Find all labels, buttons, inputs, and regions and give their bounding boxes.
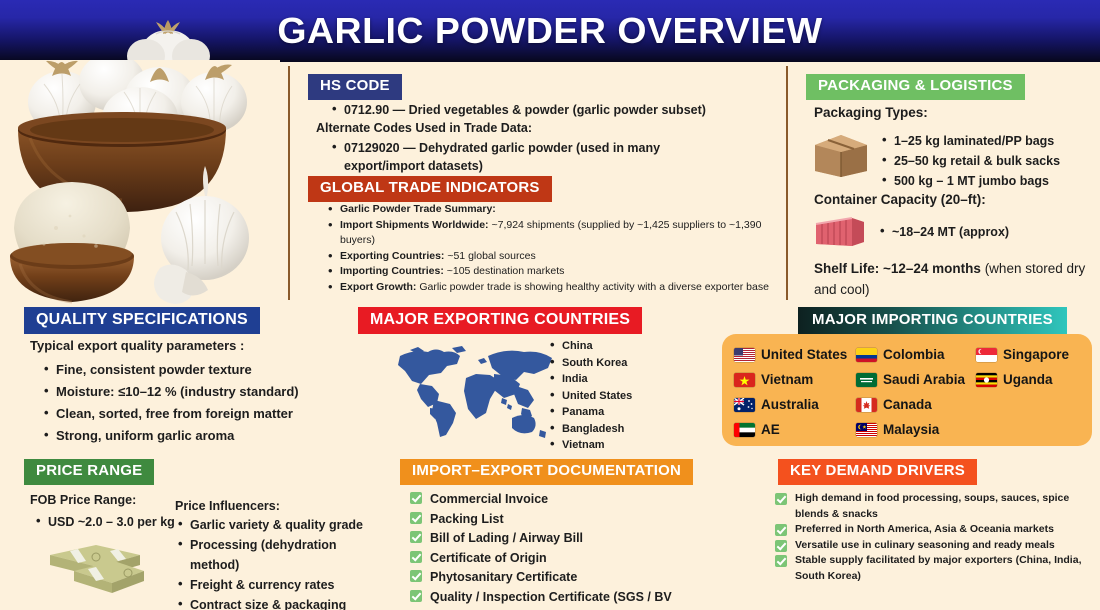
importing-countries-panel: United StatesColombiaSingaporeVietnamSau… xyxy=(722,334,1092,446)
container-capacity-label: Container Capacity (20–ft): xyxy=(814,192,986,207)
list-item: Exporting Countries: ~51 global sources xyxy=(326,249,778,265)
documentation-heading: IMPORT–EXPORT DOCUMENTATION xyxy=(400,459,693,485)
quality-list: Fine, consistent powder textureMoisture:… xyxy=(42,359,332,447)
flag-canada-icon xyxy=(856,398,877,412)
check-icon xyxy=(410,570,422,582)
cardboard-box-icon xyxy=(812,131,870,177)
flag-vietnam-icon xyxy=(734,373,755,387)
check-icon xyxy=(775,540,787,552)
demand-section: KEY DEMAND DRIVERS xyxy=(778,459,977,485)
list-item: Quality / Inspection Certificate (SGS / … xyxy=(410,588,720,610)
price-heading: PRICE RANGE xyxy=(24,459,154,485)
list-item: Panama xyxy=(548,404,698,421)
list-item-label: Exporting Countries: xyxy=(340,250,444,262)
flag-uae-icon xyxy=(734,423,755,437)
flag-uganda-icon xyxy=(976,373,997,387)
packaging-heading: PACKAGING & LOGISTICS xyxy=(806,74,1025,100)
infographic-page: GARLIC POWDER OVERVIEW xyxy=(0,0,1100,610)
flag-saudi-arabia-icon xyxy=(856,373,877,387)
list-item: 25–50 kg retail & bulk sacks xyxy=(880,151,1080,171)
list-item: Strong, uniform garlic aroma xyxy=(42,425,332,447)
importing-country-label: Malaysia xyxy=(883,422,939,437)
importing-country-item: Malaysia xyxy=(856,422,976,437)
importing-country-item: Vietnam xyxy=(734,372,856,387)
importing-country-label: United States xyxy=(761,347,847,362)
price-section: PRICE RANGE xyxy=(24,459,154,485)
demand-heading: KEY DEMAND DRIVERS xyxy=(778,459,977,485)
list-item: Commercial Invoice xyxy=(410,490,720,510)
global-trade-heading: GLOBAL TRADE INDICATORS xyxy=(308,176,552,202)
list-item: Certificate of Origin xyxy=(410,549,720,569)
money-bundles-icon xyxy=(44,541,148,599)
documentation-list: Commercial InvoicePacking ListBill of La… xyxy=(410,490,720,610)
quality-subtitle: Typical export quality parameters : xyxy=(30,338,244,353)
hs-code-section: HS CODE xyxy=(308,74,402,100)
header-banner: GARLIC POWDER OVERVIEW xyxy=(0,0,1100,62)
hs-code-heading: HS CODE xyxy=(308,74,402,100)
list-item: Contract size & packaging xyxy=(176,595,386,610)
importing-country-label: Singapore xyxy=(1003,347,1069,362)
packaging-types-label: Packaging Types: xyxy=(814,105,928,120)
list-item: 07129020 — Dehydrated garlic powder (use… xyxy=(330,139,730,175)
list-item: Export Growth: Garlic powder trade is sh… xyxy=(326,280,778,296)
importing-country-item: Canada xyxy=(856,397,976,412)
list-item: Bangladesh xyxy=(548,421,698,438)
list-item: Packing List xyxy=(410,510,720,530)
list-item: India xyxy=(548,371,698,388)
list-item: ~18–24 MT (approx) xyxy=(878,223,1068,241)
list-item: High demand in food processing, soups, s… xyxy=(775,491,1085,522)
exporting-heading: MAJOR EXPORTING COUNTRIES xyxy=(358,307,642,334)
check-icon xyxy=(775,493,787,505)
quality-section: QUALITY SPECIFICATIONS xyxy=(24,307,260,334)
flag-malaysia-icon xyxy=(856,423,877,437)
price-influencers-label: Price Influencers: xyxy=(175,499,280,513)
flag-colombia-icon xyxy=(856,348,877,362)
check-icon xyxy=(410,590,422,602)
list-item: United States xyxy=(548,388,698,405)
importing-section: MAJOR IMPORTING COUNTRIES xyxy=(798,307,1067,335)
flag-singapore-icon xyxy=(976,348,997,362)
importing-country-label: Canada xyxy=(883,397,932,412)
world-map-icon xyxy=(390,338,562,446)
divider-vertical-right xyxy=(786,66,788,300)
container-capacity-list: ~18–24 MT (approx) xyxy=(878,223,1068,241)
importing-country-item: Saudi Arabia xyxy=(856,372,976,387)
importing-country-item: Australia xyxy=(734,397,856,412)
list-item: Preferred in North America, Asia & Ocean… xyxy=(775,522,1085,538)
importing-country-item: Uganda xyxy=(976,372,1086,387)
hs-code-alt-list: 07129020 — Dehydrated garlic powder (use… xyxy=(330,139,730,175)
list-item-label: High demand in food processing, soups, s… xyxy=(795,492,1069,520)
list-item-label: Quality / Inspection Certificate (SGS / … xyxy=(430,590,672,610)
importing-country-label: Uganda xyxy=(1003,372,1053,387)
exporting-countries-list: ChinaSouth KoreaIndiaUnited StatesPanama… xyxy=(548,338,698,454)
importing-heading: MAJOR IMPORTING COUNTRIES xyxy=(798,307,1067,335)
shelf-life-label: Shelf Life: ~12–24 months xyxy=(814,261,981,276)
list-item: Import Shipments Worldwide: ~7,924 shipm… xyxy=(326,218,778,249)
list-item-value: Garlic powder trade is showing healthy a… xyxy=(416,281,769,293)
hs-code-primary-list: 0712.90 — Dried vegetables & powder (gar… xyxy=(330,101,780,119)
importing-country-label: Colombia xyxy=(883,347,945,362)
list-item: Versatile use in culinary seasoning and … xyxy=(775,538,1085,554)
list-item-label: Certificate of Origin xyxy=(430,551,547,565)
page-title: GARLIC POWDER OVERVIEW xyxy=(0,0,1100,62)
documentation-section: IMPORT–EXPORT DOCUMENTATION xyxy=(400,459,693,485)
list-item-label: Phytosanitary Certificate xyxy=(430,570,577,584)
list-item-label: Stable supply facilitated by major expor… xyxy=(795,554,1081,582)
list-item: Fine, consistent powder texture xyxy=(42,359,332,381)
list-item-label: Commercial Invoice xyxy=(430,492,548,506)
flag-australia-icon xyxy=(734,398,755,412)
check-icon xyxy=(410,492,422,504)
list-item-label: Bill of Lading / Airway Bill xyxy=(430,531,583,545)
hs-code-alt-label: Alternate Codes Used in Trade Data: xyxy=(316,121,532,135)
list-item: Garlic variety & quality grade xyxy=(176,515,386,535)
packaging-types-list: 1–25 kg laminated/PP bags25–50 kg retail… xyxy=(880,131,1080,191)
list-item: Stable supply facilitated by major expor… xyxy=(775,553,1085,584)
list-item: Importing Countries: ~105 destination ma… xyxy=(326,264,778,280)
exporting-section: MAJOR EXPORTING COUNTRIES xyxy=(358,307,642,334)
importing-country-label: AE xyxy=(761,422,780,437)
list-item: South Korea xyxy=(548,355,698,372)
fob-price-label: FOB Price Range: xyxy=(30,493,136,507)
quality-heading: QUALITY SPECIFICATIONS xyxy=(24,307,260,334)
global-trade-section: GLOBAL TRADE INDICATORS xyxy=(308,176,552,202)
importing-country-item: Singapore xyxy=(976,347,1086,362)
list-item: Phytosanitary Certificate xyxy=(410,568,720,588)
importing-country-label: Vietnam xyxy=(761,372,813,387)
shipping-container-icon xyxy=(814,216,866,248)
divider-vertical-left xyxy=(288,66,290,300)
importing-country-item: Colombia xyxy=(856,347,976,362)
list-item-label: Versatile use in culinary seasoning and … xyxy=(795,539,1055,551)
check-icon xyxy=(410,531,422,543)
list-item-label: Preferred in North America, Asia & Ocean… xyxy=(795,523,1054,535)
packaging-section: PACKAGING & LOGISTICS xyxy=(806,74,1025,100)
check-icon xyxy=(775,555,787,567)
hero-garlic-photo xyxy=(0,60,280,305)
list-item: Clean, sorted, free from foreign matter xyxy=(42,403,332,425)
list-item: Moisture: ≤10–12 % (industry standard) xyxy=(42,381,332,403)
list-item-value: ~51 global sources xyxy=(444,250,535,262)
list-item-label: Garlic Powder Trade Summary: xyxy=(340,203,496,215)
check-icon xyxy=(775,524,787,536)
list-item-label: Packing List xyxy=(430,512,504,526)
shelf-life-row: Shelf Life: ~12–24 months (when stored d… xyxy=(814,258,1086,300)
list-item: China xyxy=(548,338,698,355)
list-item: 0712.90 — Dried vegetables & powder (gar… xyxy=(330,101,780,119)
global-trade-list: Garlic Powder Trade Summary:Import Shipm… xyxy=(326,202,778,295)
importing-country-label: Saudi Arabia xyxy=(883,372,965,387)
check-icon xyxy=(410,551,422,563)
list-item: Garlic Powder Trade Summary: xyxy=(326,202,778,218)
list-item: Vietnam xyxy=(548,437,698,454)
list-item: Bill of Lading / Airway Bill xyxy=(410,529,720,549)
list-item: Processing (dehydration method) xyxy=(176,535,386,575)
list-item-label: Export Growth: xyxy=(340,281,416,293)
list-item: Freight & currency rates xyxy=(176,575,386,595)
list-item-label: Importing Countries: xyxy=(340,265,444,277)
check-icon xyxy=(410,512,422,524)
flag-united-states-icon xyxy=(734,348,755,362)
list-item: 1–25 kg laminated/PP bags xyxy=(880,131,1080,151)
importing-country-item: United States xyxy=(734,347,856,362)
importing-country-label: Australia xyxy=(761,397,819,412)
list-item: 500 kg – 1 MT jumbo bags xyxy=(880,171,1080,191)
list-item-value: ~105 destination markets xyxy=(444,265,565,277)
price-influencers-list: Garlic variety & quality gradeProcessing… xyxy=(176,515,386,610)
demand-drivers-list: High demand in food processing, soups, s… xyxy=(775,491,1085,584)
list-item-label: Import Shipments Worldwide: xyxy=(340,219,489,231)
importing-country-item: AE xyxy=(734,422,856,437)
